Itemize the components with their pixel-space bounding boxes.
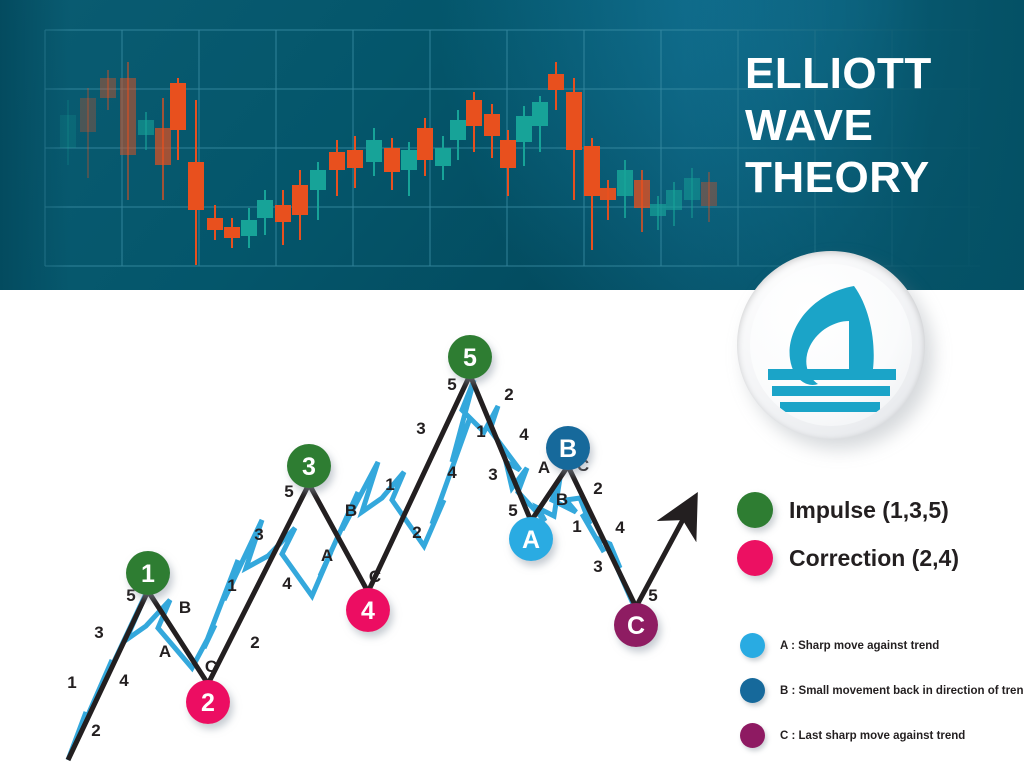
wave-marker-4[interactable]: 4 (346, 588, 390, 632)
sub-wave-label: 3 (593, 557, 602, 576)
legend-item-impulse[interactable]: Impulse (1,3,5) (737, 492, 1017, 528)
wave-marker-label: A (522, 526, 540, 554)
legend-main: Impulse (1,3,5) Correction (2,4) (737, 492, 1017, 588)
sub-wave-label: 5 (508, 501, 517, 520)
sub-wave-label: 4 (615, 518, 625, 537)
sub-wave-label: 3 (488, 465, 497, 484)
sub-wave-label: A (538, 458, 550, 477)
wave-marker-5[interactable]: 5 (448, 335, 492, 379)
sub-wave-label: A (321, 546, 333, 565)
sub-wave-label: 2 (91, 721, 100, 740)
sub-wave-label: 1 (385, 475, 394, 494)
sub-wave-label: 4 (282, 574, 292, 593)
sub-wave-label: B (556, 490, 568, 509)
wave-marker-label: 1 (141, 560, 155, 588)
logo-inner-disc (750, 264, 912, 426)
wave-b-dot-icon (740, 678, 765, 703)
sub-wave-label: 4 (119, 671, 129, 690)
wave-marker-label: B (559, 435, 577, 463)
sub-wave-label: 4 (519, 425, 529, 444)
sub-wave-label: 1 (572, 517, 581, 536)
correction-dot-icon (737, 540, 773, 576)
legend-item-correction[interactable]: Correction (2,4) (737, 540, 1017, 576)
sub-wave-label: 4 (447, 463, 457, 482)
sub-wave-label: 5 (447, 375, 456, 394)
legend-label-wave-c: C : Last sharp move against trend (780, 730, 965, 742)
wave-marker-label: 4 (361, 597, 375, 625)
wave-marker-label: 2 (201, 689, 215, 717)
forecast-arrow-group (636, 514, 686, 607)
legend-label-correction: Correction (2,4) (789, 545, 959, 572)
sub-wave-label: 1 (227, 576, 236, 595)
wave-a-dot-icon (740, 633, 765, 658)
wave-marker-c[interactable]: C (614, 603, 658, 647)
wave-marker-label: C (627, 612, 645, 640)
page-title: ELLIOTT WAVE THEORY (745, 48, 1015, 204)
wave-c-dot-icon (740, 723, 765, 748)
sub-wave-label: 2 (250, 633, 259, 652)
brand-logo (737, 251, 931, 445)
sub-wave-label: B (179, 598, 191, 617)
sub-wave-label: 3 (416, 419, 425, 438)
sub-wave-label: 2 (412, 523, 421, 542)
sub-wave-label: 2 (504, 385, 513, 404)
sub-wave-label: A (159, 642, 171, 661)
title-line-2: WAVE (745, 100, 1015, 152)
elliott-wave-diagram: 12345ABC12345ABC1234512345ABC12345 12345… (0, 290, 740, 768)
wave-marker-b[interactable]: B (546, 426, 590, 470)
title-line-3: THEORY (745, 152, 1015, 204)
sub-wave-label: B (345, 501, 357, 520)
sub-wave-label: C (205, 657, 217, 676)
sub-wave-label: 1 (67, 673, 76, 692)
legend-sub: A : Sharp move against trend B : Small m… (740, 633, 1024, 768)
wave-marker-a[interactable]: A (509, 517, 553, 561)
title-line-1: ELLIOTT (745, 48, 1015, 100)
sub-wave-label: C (369, 567, 381, 586)
sub-wave-label: 1 (476, 422, 485, 441)
wave-marker-label: 5 (463, 344, 477, 372)
legend-label-wave-b: B : Small movement back in direction of … (780, 685, 1024, 697)
wave-diagram-svg: 12345ABC12345ABC1234512345ABC12345 12345… (0, 290, 740, 768)
wave-marker-label: 3 (302, 453, 316, 481)
shark-fin-icon (750, 264, 912, 426)
legend-label-impulse: Impulse (1,3,5) (789, 497, 949, 524)
logo-disc (737, 251, 925, 439)
legend-item-wave-b[interactable]: B : Small movement back in direction of … (740, 678, 1024, 703)
infographic-root: ELLIOTT WAVE THEORY (0, 0, 1024, 768)
sub-wave-label: 2 (593, 479, 602, 498)
header-banner: ELLIOTT WAVE THEORY (0, 0, 1024, 290)
impulse-dot-icon (737, 492, 773, 528)
legend-label-wave-a: A : Sharp move against trend (780, 640, 939, 652)
wave-marker-1[interactable]: 1 (126, 551, 170, 595)
sub-wave-label: 5 (648, 586, 657, 605)
sub-wave-label: 3 (94, 623, 103, 642)
legend-item-wave-c[interactable]: C : Last sharp move against trend (740, 723, 1024, 748)
sub-wave-label: 5 (284, 482, 293, 501)
wave-marker-2[interactable]: 2 (186, 680, 230, 724)
sub-wave-label: 3 (254, 525, 263, 544)
legend-item-wave-a[interactable]: A : Sharp move against trend (740, 633, 1024, 658)
wave-marker-3[interactable]: 3 (287, 444, 331, 488)
